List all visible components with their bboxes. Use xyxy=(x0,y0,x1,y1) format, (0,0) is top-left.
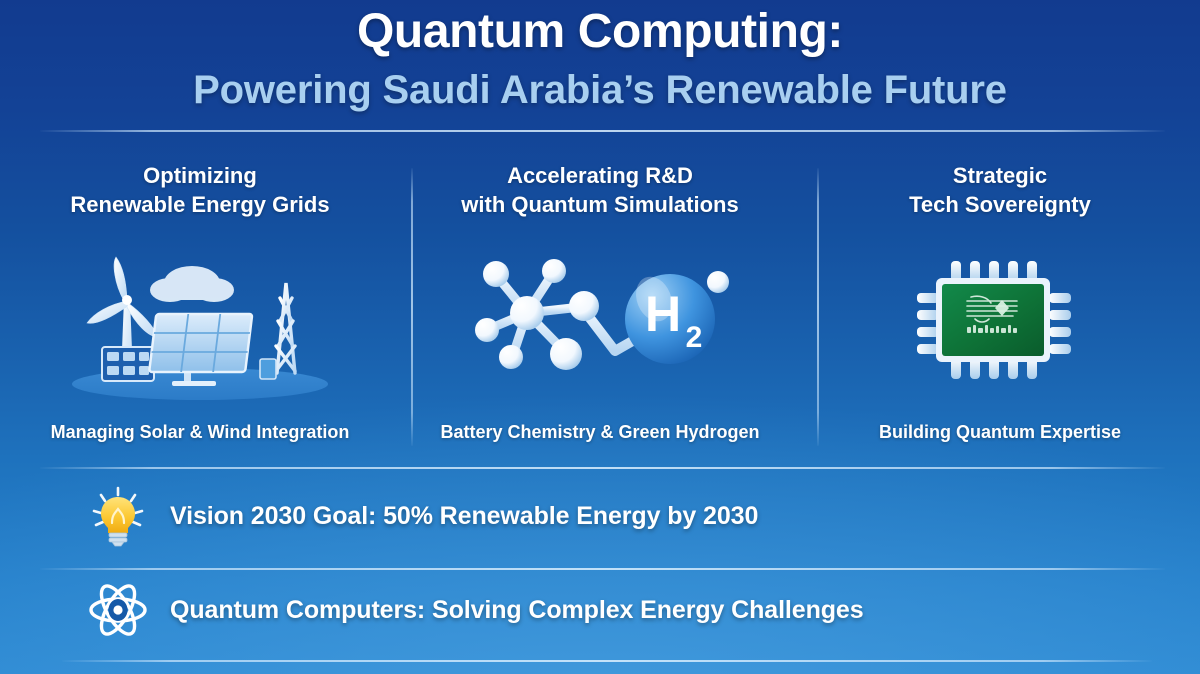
vision-2030-text: Vision 2030 Goal: 50% Renewable Energy b… xyxy=(170,502,758,531)
vision-2030-row: Vision 2030 Goal: 50% Renewable Energy b… xyxy=(86,484,758,548)
atom-icon xyxy=(86,578,150,642)
column-caption: Building Quantum Expertise xyxy=(879,422,1121,447)
renewable-energy-grid-icon xyxy=(0,219,400,422)
column-heading: Accelerating R&D with Quantum Simulation… xyxy=(451,162,748,219)
section-divider-1 xyxy=(40,467,1165,469)
svg-text:H: H xyxy=(645,286,681,342)
quantum-computers-row: Quantum Computers: Solving Complex Energ… xyxy=(86,578,864,642)
header-divider xyxy=(40,130,1165,132)
infographic-slide: Quantum Computing: Powering Saudi Arabia… xyxy=(0,0,1200,674)
svg-text:2: 2 xyxy=(686,321,703,354)
page-subtitle: Powering Saudi Arabia’s Renewable Future xyxy=(0,66,1200,114)
lightbulb-icon xyxy=(86,484,150,548)
page-title: Quantum Computing: xyxy=(0,4,1200,60)
molecule-hydrogen-icon: H 2 xyxy=(400,219,800,422)
section-divider-3 xyxy=(62,660,1152,662)
feature-columns: Optimizing Renewable Energy Grids xyxy=(0,162,1200,447)
column-caption: Managing Solar & Wind Integration xyxy=(51,422,350,447)
column-heading: Strategic Tech Sovereignty xyxy=(899,162,1101,219)
feature-column-strategic: Strategic Tech Sovereignty xyxy=(800,162,1200,447)
feature-column-accelerating: Accelerating R&D with Quantum Simulation… xyxy=(400,162,800,447)
section-divider-2 xyxy=(40,568,1165,570)
header: Quantum Computing: Powering Saudi Arabia… xyxy=(0,0,1200,114)
column-heading: Optimizing Renewable Energy Grids xyxy=(60,162,339,219)
column-caption: Battery Chemistry & Green Hydrogen xyxy=(440,422,759,447)
quantum-computers-text: Quantum Computers: Solving Complex Energ… xyxy=(170,596,864,625)
feature-column-optimizing: Optimizing Renewable Energy Grids xyxy=(0,162,400,447)
microchip-icon xyxy=(800,219,1200,422)
